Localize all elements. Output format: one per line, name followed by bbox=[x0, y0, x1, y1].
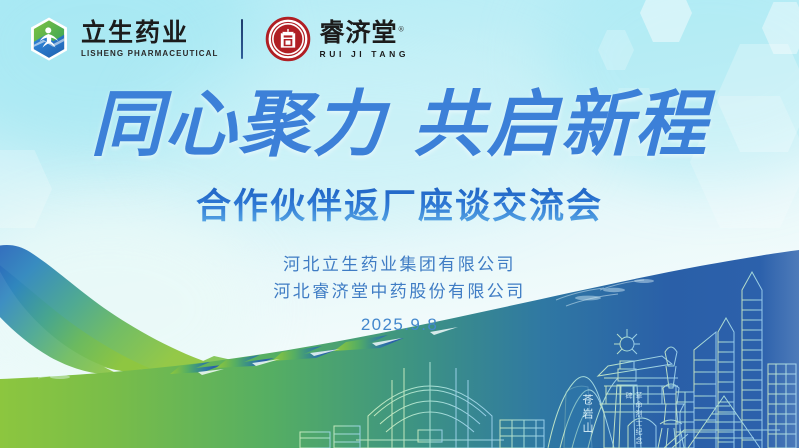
hexagon-mountain-logo-icon bbox=[26, 16, 72, 62]
ruijitang-logo[interactable]: 睿济堂® RUI JI TANG bbox=[265, 16, 410, 62]
logo-divider bbox=[241, 19, 243, 59]
lisheng-logo[interactable]: 立生药业 LISHENG PHARMACEUTICAL bbox=[26, 16, 219, 62]
poster-canvas: 苍岩山 革命烈士纪念碑 bbox=[0, 0, 799, 448]
ruijitang-logo-cn: 睿济堂® bbox=[320, 20, 406, 45]
event-date: 2025.9.8 bbox=[0, 315, 799, 335]
lisheng-logo-en: LISHENG PHARMACEUTICAL bbox=[81, 49, 219, 58]
ruijitang-logo-en: RUI JI TANG bbox=[320, 49, 410, 59]
poster-headline: 同心聚力共启新程 bbox=[0, 88, 799, 160]
company-names: 河北立生药业集团有限公司 河北睿济堂中药股份有限公司 bbox=[0, 252, 799, 306]
registered-mark-icon: ® bbox=[398, 25, 406, 33]
header-logo-bar: 立生药业 LISHENG PHARMACEUTICAL 睿济堂® RUI JI … bbox=[26, 16, 409, 62]
headline-part-2: 共启新程 bbox=[413, 81, 709, 166]
background-blob bbox=[0, 208, 260, 408]
landmark-label-cangyan-mountain: 苍岩山 bbox=[579, 394, 595, 436]
company-name-line-1: 河北立生药业集团有限公司 bbox=[0, 252, 799, 279]
company-name-line-2: 河北睿济堂中药股份有限公司 bbox=[0, 279, 799, 306]
lisheng-logo-cn: 立生药业 bbox=[81, 20, 189, 45]
landmark-label-monument: 革命烈士纪念碑 bbox=[624, 392, 644, 448]
poster-subtitle: 合作伙伴返厂座谈交流会 bbox=[0, 186, 799, 228]
red-circular-seal-icon bbox=[265, 16, 311, 62]
headline-part-1: 同心聚力 bbox=[90, 81, 386, 166]
